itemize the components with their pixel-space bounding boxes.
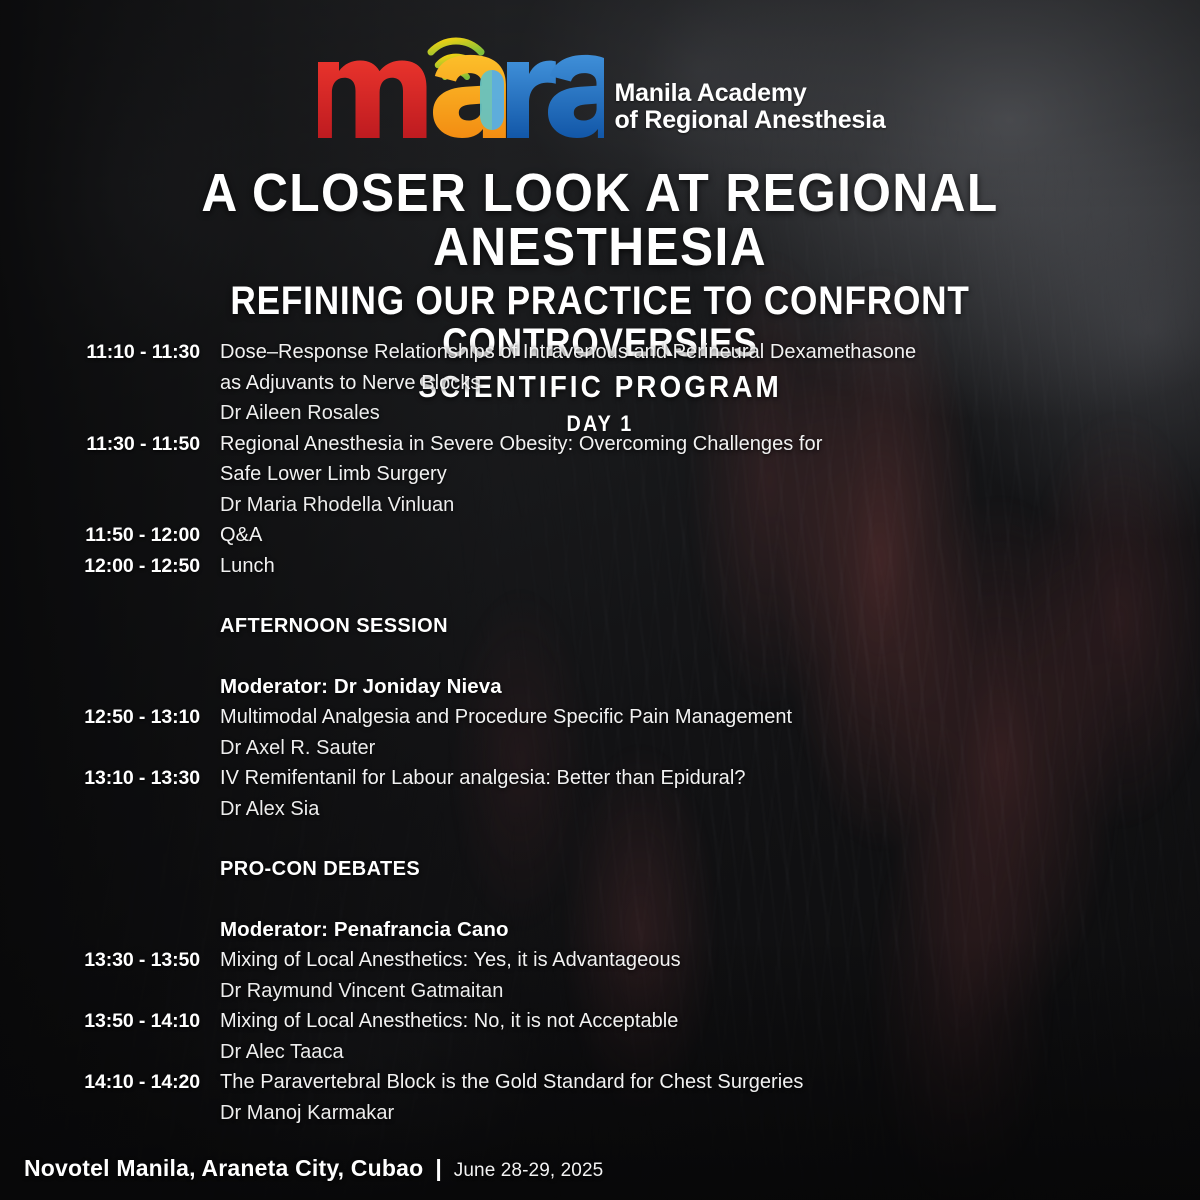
schedule-time: 13:10 - 13:30 <box>62 763 200 794</box>
schedule-topic: IV Remifentanil for Labour analgesia: Be… <box>220 763 1152 794</box>
schedule-row-body: Multimodal Analgesia and Procedure Speci… <box>200 702 1152 763</box>
footer-bar: Novotel Manila, Araneta City, Cubao | Ju… <box>24 1155 603 1182</box>
schedule-speaker: Dr Aileen Rosales <box>220 398 1152 429</box>
schedule-topic: Safe Lower Limb Surgery <box>220 459 1152 490</box>
schedule-topic: Dose–Response Relationships of Intraveno… <box>220 337 1152 368</box>
schedule-row-body: PRO-CON DEBATES <box>200 854 1152 885</box>
schedule-row-body: Mixing of Local Anesthetics: No, it is n… <box>200 1006 1152 1067</box>
schedule-topic: Q&A <box>220 520 1152 551</box>
schedule-row-body: Q&A <box>200 520 1152 551</box>
schedule-row: 11:10 - 11:30Dose–Response Relationships… <box>62 337 1152 429</box>
event-dates: June 28-29, 2025 <box>454 1160 604 1182</box>
moderator-label: Moderator: Penafrancia Cano <box>220 915 1152 946</box>
schedule-row: 13:50 - 14:10Mixing of Local Anesthetics… <box>62 1006 1152 1067</box>
schedule-topic: Mixing of Local Anesthetics: No, it is n… <box>220 1006 1152 1037</box>
footer-separator-icon: | <box>433 1155 443 1182</box>
schedule-row: 13:10 - 13:30IV Remifentanil for Labour … <box>62 763 1152 824</box>
event-program-poster: Manila Academy of Regional Anesthesia A … <box>0 0 1200 1200</box>
schedule-row-body: Mixing of Local Anesthetics: Yes, it is … <box>200 945 1152 1006</box>
schedule-time: 12:50 - 13:10 <box>62 702 200 733</box>
schedule-speaker: Dr Axel R. Sauter <box>220 733 1152 764</box>
schedule-spacer <box>62 885 1152 915</box>
schedule-row-body: AFTERNOON SESSION <box>200 611 1152 642</box>
schedule-speaker: Dr Alex Sia <box>220 794 1152 825</box>
schedule-row-body: Regional Anesthesia in Severe Obesity: O… <box>200 429 1152 521</box>
moderator-row: Moderator: Dr Joniday Nieva <box>62 672 1152 703</box>
schedule-row-body: Moderator: Penafrancia Cano <box>200 915 1152 946</box>
schedule-spacer <box>62 642 1152 672</box>
schedule-topic: Regional Anesthesia in Severe Obesity: O… <box>220 429 1152 460</box>
schedule-speaker: Dr Alec Taaca <box>220 1037 1152 1068</box>
section-header-row: AFTERNOON SESSION <box>62 611 1152 642</box>
schedule-topic: Mixing of Local Anesthetics: Yes, it is … <box>220 945 1152 976</box>
venue-label: Novotel Manila, Araneta City, Cubao <box>24 1155 423 1182</box>
schedule-topic: Multimodal Analgesia and Procedure Speci… <box>220 702 1152 733</box>
schedule-topic: The Paravertebral Block is the Gold Stan… <box>220 1067 1152 1098</box>
moderator-label: Moderator: Dr Joniday Nieva <box>220 672 1152 703</box>
schedule-row-body: The Paravertebral Block is the Gold Stan… <box>200 1067 1152 1128</box>
schedule-time: 13:50 - 14:10 <box>62 1006 200 1037</box>
schedule-time: 11:30 - 11:50 <box>62 429 200 460</box>
schedule-speaker: Dr Raymund Vincent Gatmaitan <box>220 976 1152 1007</box>
schedule-time: 11:50 - 12:00 <box>62 520 200 551</box>
schedule-row: 12:00 - 12:50Lunch <box>62 551 1152 582</box>
schedule-row-body: Moderator: Dr Joniday Nieva <box>200 672 1152 703</box>
schedule-spacer <box>62 824 1152 854</box>
schedule-row-body: Lunch <box>200 551 1152 582</box>
schedule-topic: as Adjuvants to Nerve Blocks <box>220 368 1152 399</box>
schedule-row-body: IV Remifentanil for Labour analgesia: Be… <box>200 763 1152 824</box>
schedule-row: 11:50 - 12:00Q&A <box>62 520 1152 551</box>
schedule-time: 14:10 - 14:20 <box>62 1067 200 1098</box>
moderator-row: Moderator: Penafrancia Cano <box>62 915 1152 946</box>
schedule-spacer <box>62 581 1152 611</box>
brand-logo: Manila Academy of Regional Anesthesia <box>0 24 1200 144</box>
section-header-label: PRO-CON DEBATES <box>220 854 1152 885</box>
schedule-speaker: Dr Manoj Karmakar <box>220 1098 1152 1129</box>
page-title: A CLOSER LOOK AT REGIONAL ANESTHESIA <box>48 166 1152 274</box>
schedule-time: 11:10 - 11:30 <box>62 337 200 368</box>
schedule-row: 13:30 - 13:50Mixing of Local Anesthetics… <box>62 945 1152 1006</box>
schedule-time: 13:30 - 13:50 <box>62 945 200 976</box>
schedule-time: 12:00 - 12:50 <box>62 551 200 582</box>
brand-name-text: Manila Academy of Regional Anesthesia <box>614 80 885 144</box>
mara-logo-icon <box>314 24 604 144</box>
schedule-row: 11:30 - 11:50Regional Anesthesia in Seve… <box>62 429 1152 521</box>
schedule-row: 14:10 - 14:20The Paravertebral Block is … <box>62 1067 1152 1128</box>
schedule-list: 11:10 - 11:30Dose–Response Relationships… <box>62 337 1152 1128</box>
schedule-speaker: Dr Maria Rhodella Vinluan <box>220 490 1152 521</box>
schedule-row-body: Dose–Response Relationships of Intraveno… <box>200 337 1152 429</box>
schedule-topic: Lunch <box>220 551 1152 582</box>
section-header-row: PRO-CON DEBATES <box>62 854 1152 885</box>
section-header-label: AFTERNOON SESSION <box>220 611 1152 642</box>
schedule-row: 12:50 - 13:10Multimodal Analgesia and Pr… <box>62 702 1152 763</box>
